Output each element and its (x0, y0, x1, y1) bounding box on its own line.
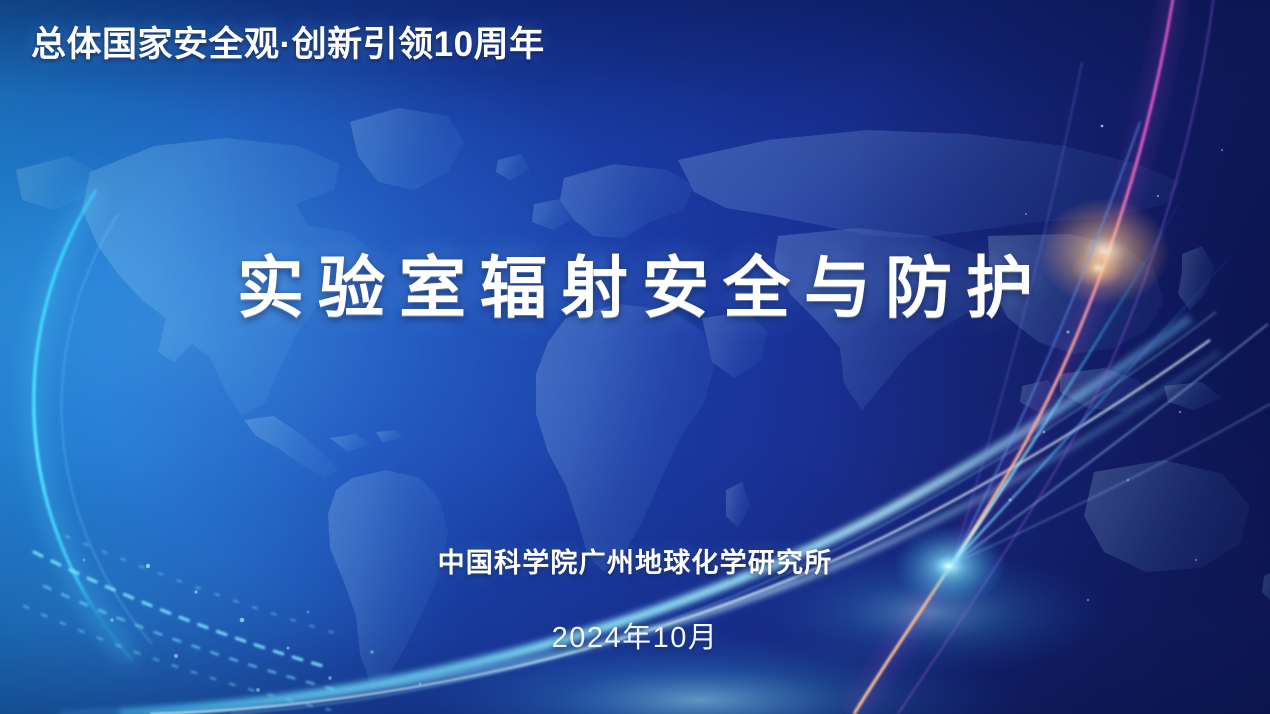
header-banner-title: 总体国家安全观·创新引领10周年 (31, 27, 545, 62)
title-slide: 总体国家安全观·创新引领10周年 实验室辐射安全与防护 中国科学院广州地球化学研… (0, 0, 1270, 714)
star-specks (1009, 125, 1224, 602)
organization-name: 中国科学院广州地球化学研究所 (0, 541, 1270, 580)
decorative-light-arcs (0, 0, 1270, 714)
presentation-date: 2024年10月 (0, 614, 1270, 656)
page-title: 实验室辐射安全与防护 (0, 253, 1270, 325)
